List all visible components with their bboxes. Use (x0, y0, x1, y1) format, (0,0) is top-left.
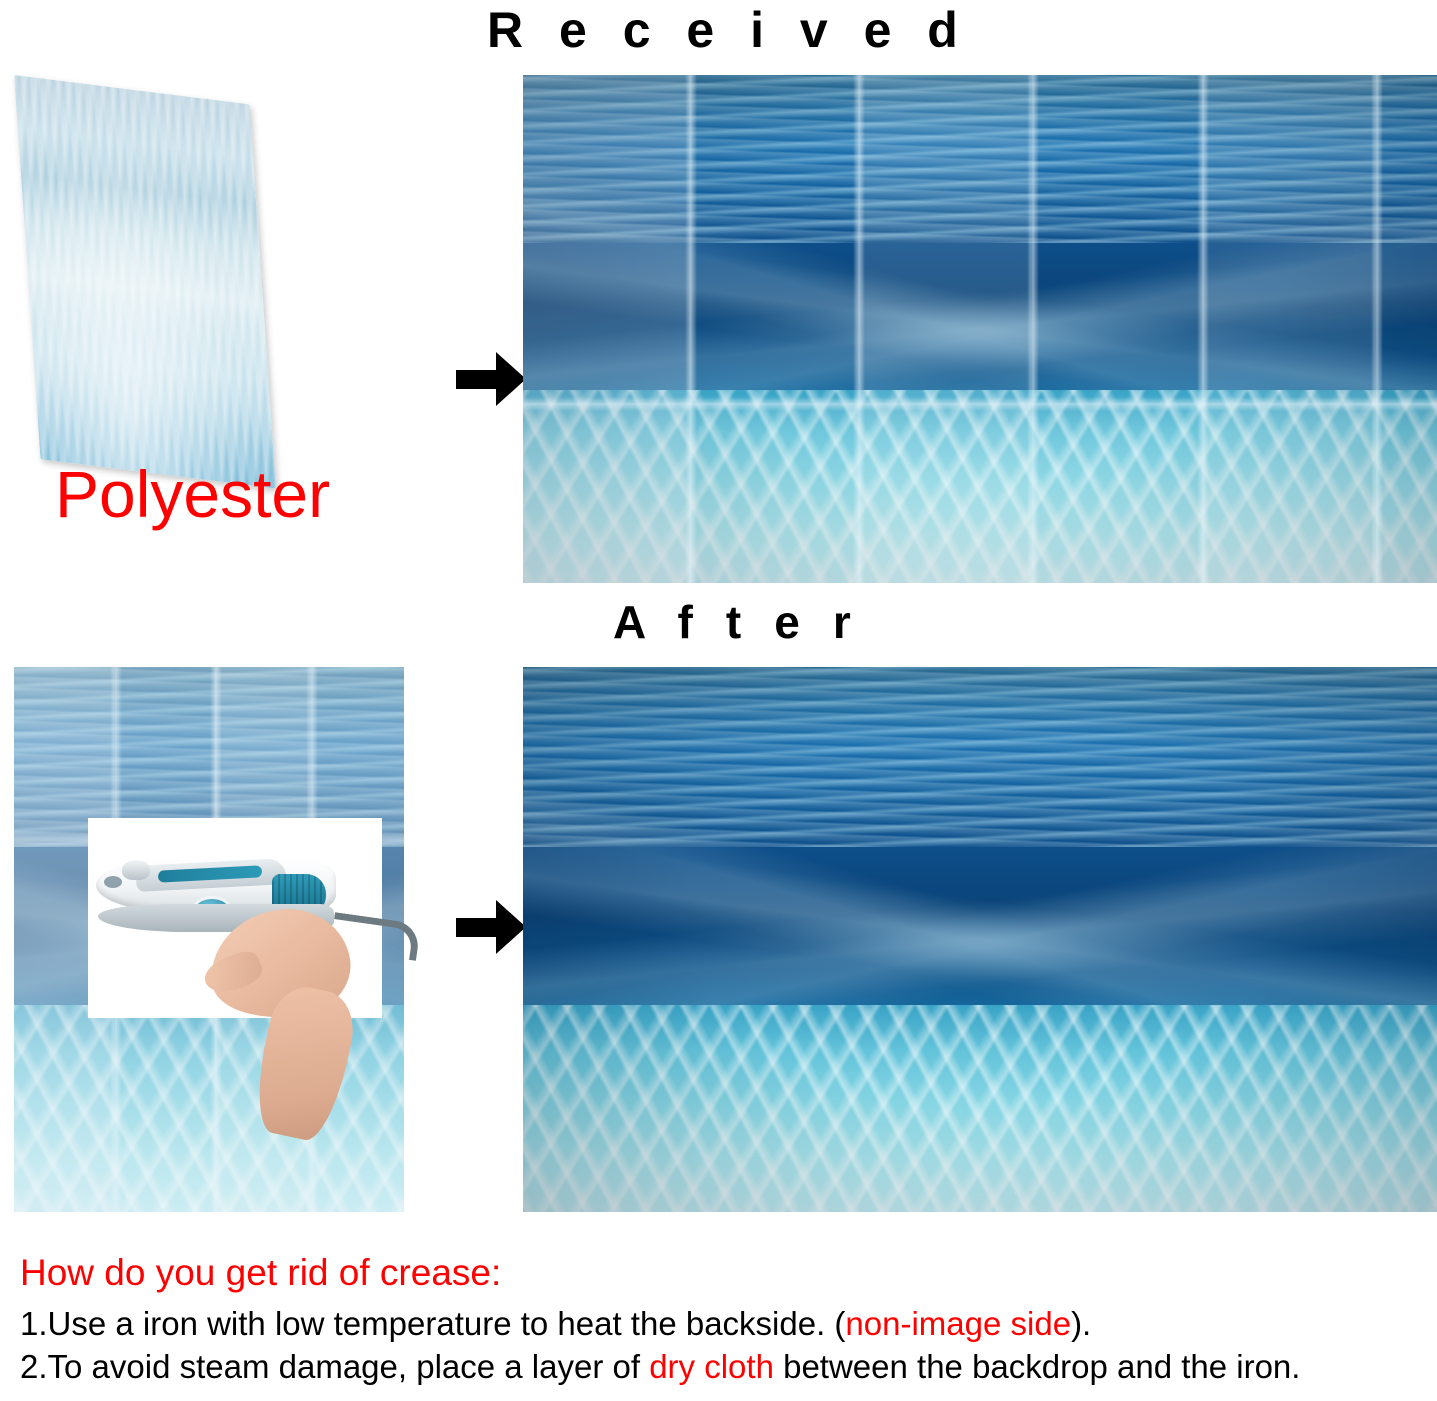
instructions-block: How do you get rid of crease: 1.Use a ir… (20, 1250, 1420, 1388)
instruction-2-text-a: 2.To avoid steam damage, place a layer o… (20, 1348, 649, 1385)
instruction-2-highlight: dry cloth (649, 1348, 774, 1385)
instruction-line-2: 2.To avoid steam damage, place a layer o… (20, 1345, 1420, 1388)
instructions-title: How do you get rid of crease: (20, 1250, 1420, 1296)
photo-vignette (523, 75, 1437, 583)
arrow-right-icon (456, 900, 526, 954)
instruction-line-1: 1.Use a iron with low temperature to hea… (20, 1302, 1420, 1345)
instruction-2-text-b: between the backdrop and the iron. (774, 1348, 1301, 1385)
hand-graphic (210, 910, 400, 1120)
arrow-right-icon (456, 352, 526, 406)
after-photo (523, 667, 1437, 1212)
iron-demo-image (88, 818, 382, 1018)
iron-spray-button (104, 876, 122, 888)
arrow-head (496, 352, 526, 406)
instruction-1-text-b: ). (1071, 1305, 1091, 1342)
arrow-head (496, 900, 526, 954)
fabric-swatch-image (14, 75, 404, 475)
instruction-1-highlight: non-image side (845, 1305, 1071, 1342)
arrow-shaft (456, 370, 500, 389)
fabric-sheet (14, 75, 276, 489)
photo-vignette (523, 667, 1437, 1212)
material-label: Polyester (55, 457, 330, 531)
arrow-shaft (456, 918, 500, 937)
after-heading: A f t e r (613, 596, 861, 648)
received-photo (523, 75, 1437, 583)
received-heading: R e c e i v e d (487, 2, 969, 58)
iron-knob (122, 860, 150, 880)
instruction-1-text-a: 1.Use a iron with low temperature to hea… (20, 1305, 845, 1342)
